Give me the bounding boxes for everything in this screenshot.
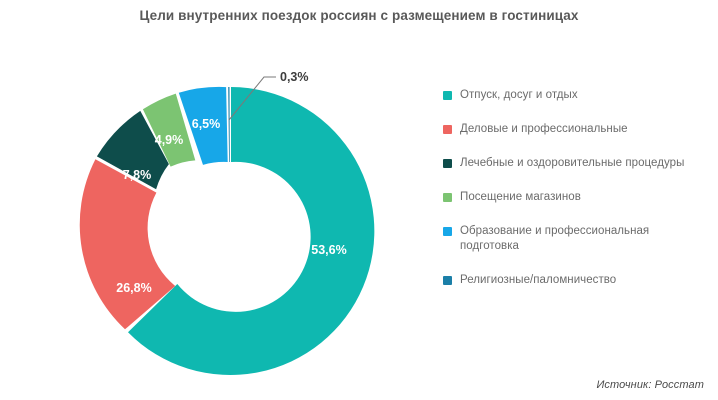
slice-value-label-lechebnye: 7,8% bbox=[123, 168, 152, 182]
legend-item-label: Посещение магазинов bbox=[460, 190, 581, 205]
legend-item-poseschenie-magazinov[interactable]: Посещение магазинов bbox=[443, 190, 711, 205]
legend-item-label: Отпуск, досуг и отдых bbox=[460, 88, 578, 103]
legend-item-label: Образование и профессиональная подготовк… bbox=[460, 224, 711, 254]
legend-swatch-icon bbox=[443, 125, 452, 134]
legend-item-delovye-i-professionalnye[interactable]: Деловые и профессиональные bbox=[443, 122, 711, 137]
legend-item-religioznye-palomnichestvo[interactable]: Религиозные/паломничество bbox=[443, 273, 711, 288]
legend-swatch-icon bbox=[443, 227, 452, 236]
legend-item-label: Лечебные и оздоровительные процедуры bbox=[460, 156, 684, 171]
legend-swatch-icon bbox=[443, 159, 452, 168]
legend-swatch-icon bbox=[443, 276, 452, 285]
legend-item-lechebnye-i-ozdorovitelnye[interactable]: Лечебные и оздоровительные процедуры bbox=[443, 156, 711, 171]
legend-item-obrazovanie-i-podgotovka[interactable]: Образование и профессиональная подготовк… bbox=[443, 224, 711, 254]
legend-item-label: Религиозные/паломничество bbox=[460, 273, 616, 288]
donut-plot-area: 53,6% 26,8% 7,8% 4,9% 6,5% 0,3% bbox=[0, 0, 430, 400]
slice-value-label-religioznye: 0,3% bbox=[280, 70, 309, 84]
source-note: Источник: Росстат bbox=[596, 379, 704, 391]
slice-value-label-otpusk: 53,6% bbox=[311, 243, 346, 257]
legend-swatch-icon bbox=[443, 91, 452, 100]
slice-value-label-delovye: 26,8% bbox=[116, 281, 151, 295]
donut-svg: 53,6% 26,8% 7,8% 4,9% 6,5% 0,3% bbox=[0, 0, 430, 400]
legend-swatch-icon bbox=[443, 193, 452, 202]
pie-slice-religioznye-palomnichestvo[interactable] bbox=[228, 87, 230, 162]
legend-item-label: Деловые и профессиональные bbox=[460, 122, 628, 137]
legend-item-otpusk-dosug-i-otdyh[interactable]: Отпуск, досуг и отдых bbox=[443, 88, 711, 103]
slice-value-label-obrazovanie: 6,5% bbox=[192, 117, 221, 131]
donut-chart-figure: Цели внутренних поездок россиян с размещ… bbox=[0, 0, 718, 400]
chart-legend: Отпуск, досуг и отдых Деловые и професси… bbox=[443, 88, 711, 307]
slice-value-label-magaziny: 4,9% bbox=[155, 133, 184, 147]
